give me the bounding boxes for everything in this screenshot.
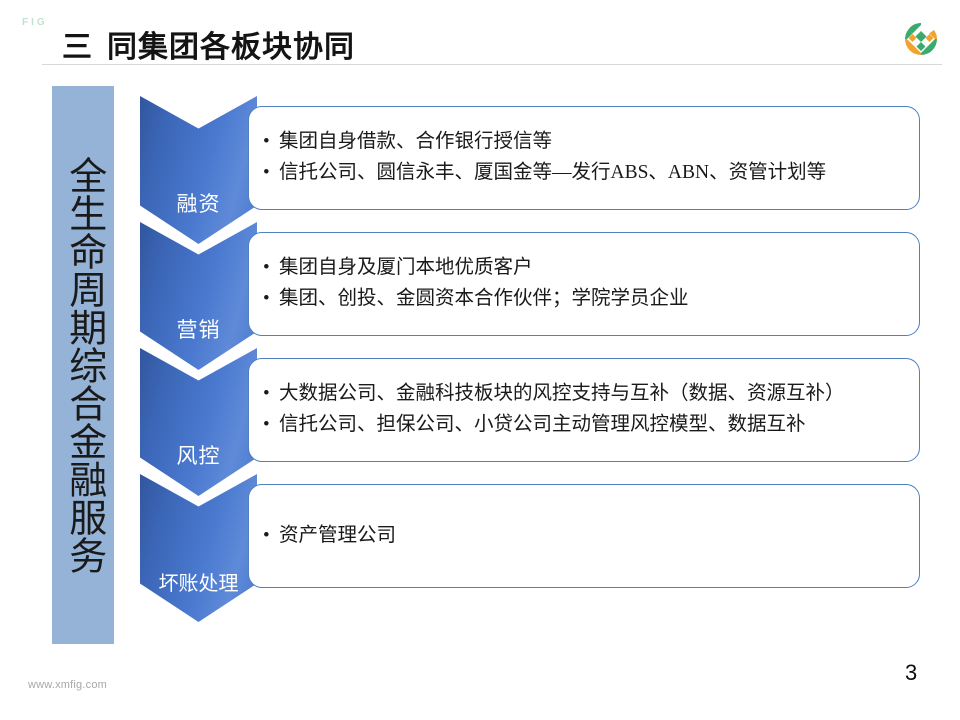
chevron-label: 营销 xyxy=(177,314,221,370)
vertical-banner: 全生命周期综合金融服务 xyxy=(52,86,114,644)
header-divider xyxy=(42,64,942,65)
list-item-text: 集团自身借款、合作银行授信等 xyxy=(279,127,913,158)
chevron-stage-2[interactable]: 风控 xyxy=(140,348,257,496)
list-item: • 集团、创投、金圆资本合作伙伴；学院学员企业 xyxy=(263,284,913,315)
list-item: • 集团自身及厦门本地优质客户 xyxy=(263,253,913,284)
list-item-text: 资产管理公司 xyxy=(279,521,913,552)
chevron-stage-1[interactable]: 营销 xyxy=(140,222,257,370)
chevron-label: 坏账处理 xyxy=(159,567,239,622)
bullet-icon: • xyxy=(263,521,279,551)
list-item: • 信托公司、担保公司、小贷公司主动管理风控模型、数据互补 xyxy=(263,410,913,441)
page-number: 3 xyxy=(905,660,917,686)
chevron-label: 融资 xyxy=(177,188,221,244)
chevron-label: 风控 xyxy=(177,440,221,496)
list-item-text: 信托公司、担保公司、小贷公司主动管理风控模型、数据互补 xyxy=(279,410,913,441)
content-box-3: • 资产管理公司 xyxy=(248,484,920,588)
bullet-icon: • xyxy=(263,127,279,157)
bullet-icon: • xyxy=(263,158,279,188)
content-box-1: • 集团自身及厦门本地优质客户 • 集团、创投、金圆资本合作伙伴；学院学员企业 xyxy=(248,232,920,336)
list-item-text: 大数据公司、金融科技板块的风控支持与互补（数据、资源互补） xyxy=(279,379,913,410)
bullet-icon: • xyxy=(263,410,279,440)
title-section-number: 三 xyxy=(62,30,93,65)
page-title: 三同集团各板块协同 xyxy=(62,22,355,66)
xmfig-pinwheel-logo-icon xyxy=(903,21,939,57)
title-text: 同集团各板块协同 xyxy=(107,30,355,65)
vertical-banner-label: 全生命周期综合金融服务 xyxy=(63,156,103,574)
content-box-2: • 大数据公司、金融科技板块的风控支持与互补（数据、资源互补） • 信托公司、担… xyxy=(248,358,920,462)
list-item-text: 集团、创投、金圆资本合作伙伴；学院学员企业 xyxy=(279,284,913,315)
list-item: • 资产管理公司 xyxy=(263,521,913,552)
bullet-icon: • xyxy=(263,253,279,283)
bullet-icon: • xyxy=(263,284,279,314)
list-item-text: 集团自身及厦门本地优质客户 xyxy=(279,253,913,284)
footer-url[interactable]: www.xmfig.com xyxy=(28,679,107,691)
chevron-stage-3[interactable]: 坏账处理 xyxy=(140,474,257,622)
list-item: • 信托公司、圆信永丰、厦国金等—发行ABS、ABN、资管计划等 xyxy=(263,158,913,189)
fig-watermark: FIG xyxy=(22,17,48,28)
chevron-stage-0[interactable]: 融资 xyxy=(140,96,257,244)
list-item-text: 信托公司、圆信永丰、厦国金等—发行ABS、ABN、资管计划等 xyxy=(279,158,913,189)
list-item: • 集团自身借款、合作银行授信等 xyxy=(263,127,913,158)
slide-canvas: FIG 三同集团各板块协同 全生命周期综合金融服务 融资 xyxy=(0,0,960,720)
list-item: • 大数据公司、金融科技板块的风控支持与互补（数据、资源互补） xyxy=(263,379,913,410)
bullet-icon: • xyxy=(263,379,279,409)
content-box-0: • 集团自身借款、合作银行授信等 • 信托公司、圆信永丰、厦国金等—发行ABS、… xyxy=(248,106,920,210)
